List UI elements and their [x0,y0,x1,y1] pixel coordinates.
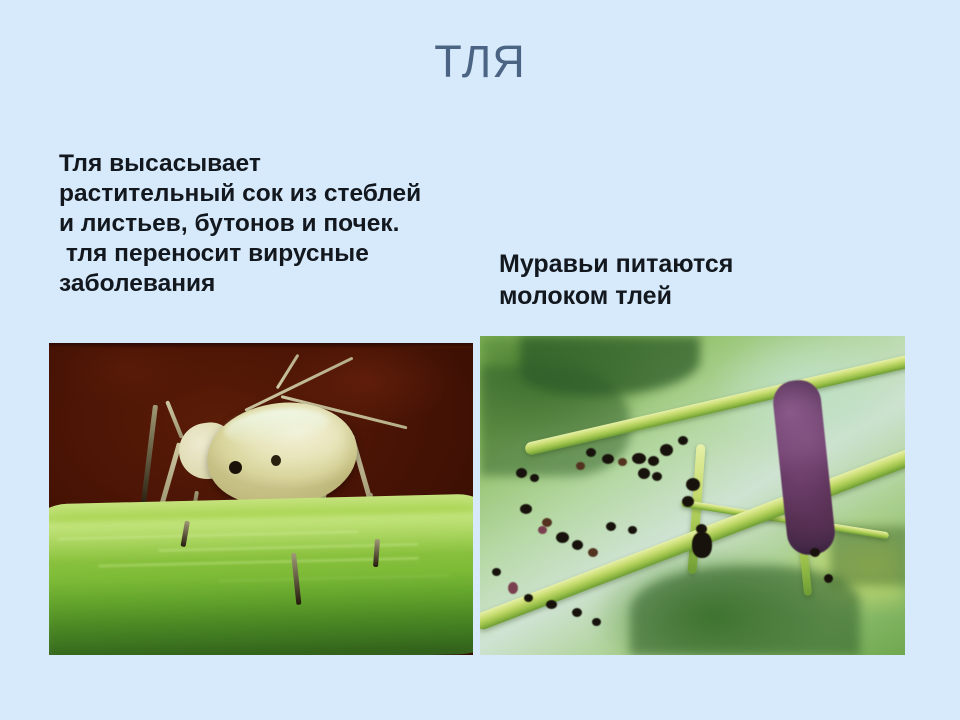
aphid-spot [576,462,585,470]
aphid-spot [556,532,569,543]
aphid-spot [660,444,673,456]
aphid-spot [524,594,533,602]
stem-streak [219,574,449,582]
aphid-large [692,532,712,558]
aphid-feeding-description: Тля высасывает растительный сок из стебл… [59,149,479,299]
aphid-spot [628,526,637,534]
aphid-spot [652,472,662,481]
aphid-spot [696,524,707,534]
page-title: ТЛЯ [0,38,960,85]
aphid-spot [682,496,694,507]
aphid-spot [632,453,646,464]
aphid-spot [618,458,627,466]
plant-stem [49,494,473,655]
aphid-spot [520,504,532,514]
aphid-on-stem-photo [49,343,473,655]
slide-canvas: ТЛЯ Тля высасывает растительный сок из с… [0,0,960,720]
aphid-spot [572,540,583,550]
aphid-spot [586,448,596,457]
ant-aphid-colony-photo [480,336,905,655]
aphid-spot [588,548,598,557]
aphid-spot [516,468,527,478]
aphid-eye [229,461,242,474]
aphid-spot [508,582,518,594]
photo-top-strip [49,343,473,348]
aphid-spot [606,522,616,531]
aphid-spot [492,568,501,576]
aphid-spot [686,478,700,491]
aphid-spot [678,436,688,445]
aphid-spot [592,618,601,626]
aphid-spot [824,574,833,583]
aphid-spot [530,474,539,482]
aphid-eye-secondary [271,455,281,466]
aphid-spot [602,454,614,464]
aphid-spot [810,548,820,557]
aphid-spot [572,608,582,617]
aphid-spot [638,468,650,479]
ants-milk-description: Муравьи питаются молоком тлей [499,248,899,312]
aphid-spot [538,526,547,534]
aphid-spot [546,600,557,609]
aphid-spot [648,456,659,466]
